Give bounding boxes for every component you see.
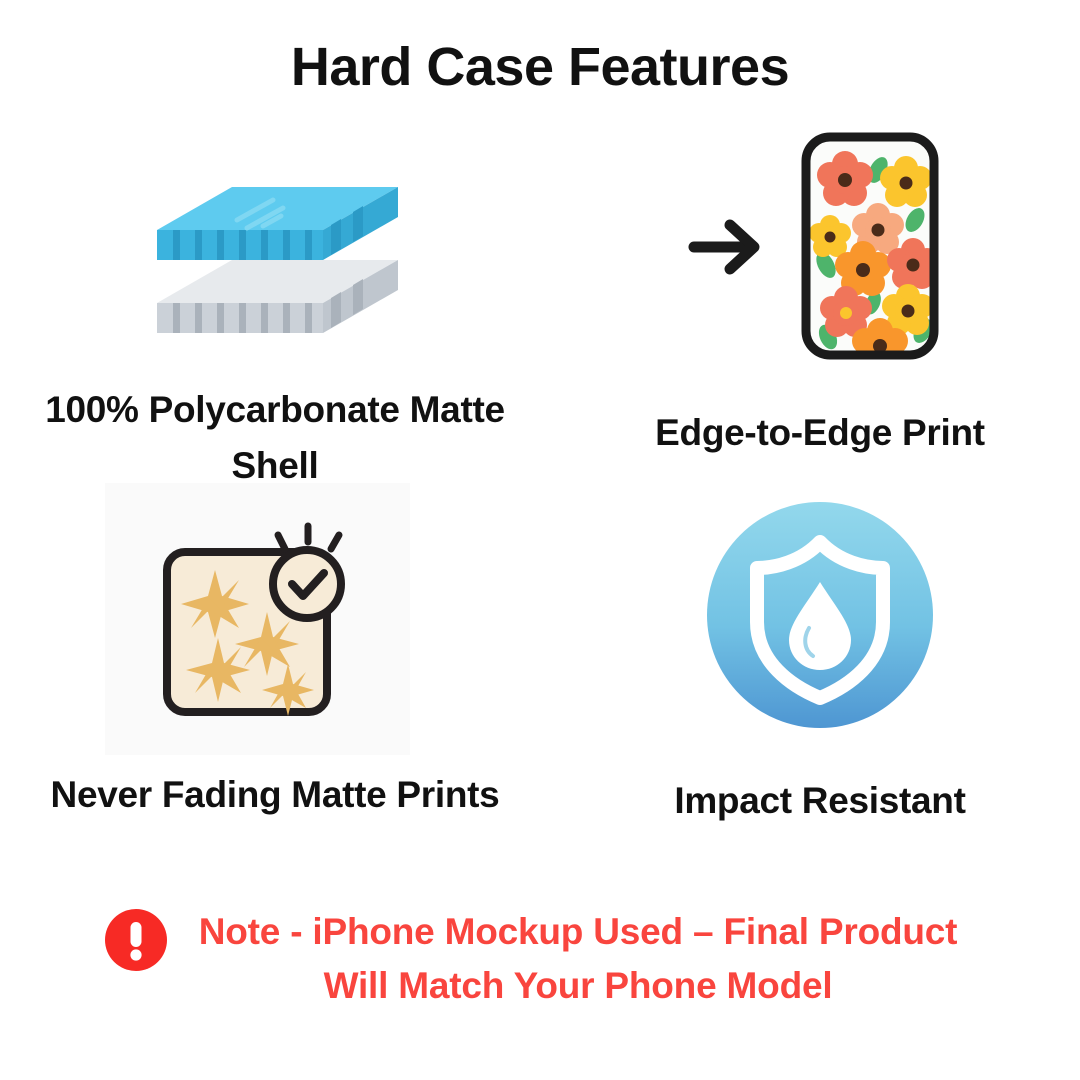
disclaimer-note: Note - iPhone Mockup Used – Final Produc… xyxy=(0,905,1080,1012)
layered-slabs-icon xyxy=(155,160,400,360)
feature-art xyxy=(30,160,520,370)
feature-card-impact: Impact Resistant xyxy=(575,500,1065,829)
feature-label-impact: Impact Resistant xyxy=(575,773,1065,829)
feature-art xyxy=(30,490,520,755)
feature-art xyxy=(575,500,1065,745)
feature-card-never-fading: Never Fading Matte Prints xyxy=(30,490,520,823)
feature-label-polycarbonate: 100% Polycarbonate Matte Shell xyxy=(30,382,520,493)
feature-card-polycarbonate: 100% Polycarbonate Matte Shell xyxy=(30,160,520,493)
feature-art xyxy=(575,125,1065,385)
page-title: Hard Case Features xyxy=(0,36,1080,98)
feature-card-edge-print: Edge-to-Edge Print xyxy=(575,125,1065,461)
shield-droplet-icon xyxy=(705,500,935,730)
fade-proof-sparkle-icon xyxy=(145,512,380,747)
arrow-right-icon xyxy=(694,225,754,269)
floral-phone-case-icon xyxy=(680,125,970,375)
feature-label-edge-print: Edge-to-Edge Print xyxy=(575,405,1065,461)
feature-label-never-fading: Never Fading Matte Prints xyxy=(30,767,520,823)
disclaimer-text: Note - iPhone Mockup Used – Final Produc… xyxy=(105,905,975,1012)
